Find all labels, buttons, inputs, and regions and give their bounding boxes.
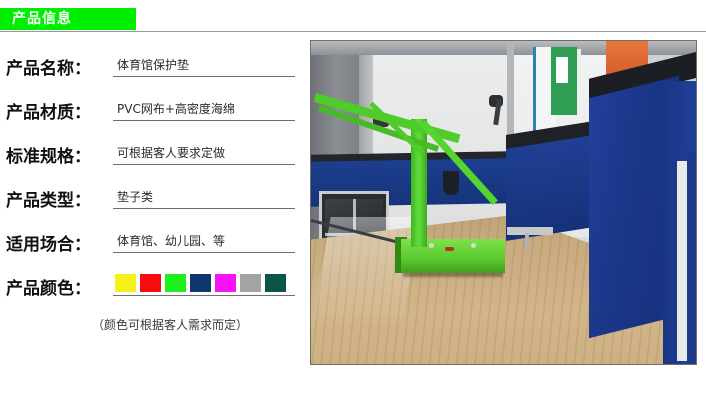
spec-value-underline: 可根据客人要求定做 [113,144,295,165]
spec-label: 产品材质： [6,98,91,123]
product-photo-frame [310,40,697,365]
spec-row-application: 适用场合： 体育馆、幼儿园、等 [0,222,300,266]
spec-value-underline [113,274,295,296]
banner-title: 产品信息 [12,10,72,28]
spec-row-specification: 标准规格： 可根据客人要求定做 [0,134,300,178]
color-swatch-dark-teal[interactable] [265,274,286,292]
color-swatch-navy-blue[interactable] [190,274,211,292]
color-swatch-yellow[interactable] [115,274,136,292]
spec-value-underline: PVC网布+高密度海绵 [113,100,295,121]
spec-label: 产品颜色： [6,274,91,299]
spec-value-underline: 体育馆保护垫 [113,56,295,77]
spec-label: 产品类型： [6,186,91,211]
spec-value: 体育馆、幼儿园、等 [117,233,225,250]
spec-value-underline: 垫子类 [113,188,295,209]
spec-value: PVC网布+高密度海绵 [117,101,235,118]
spec-label: 产品名称： [6,54,91,79]
spec-value: 可根据客人要求定做 [117,145,225,162]
spec-row-product-color: 产品颜色： [0,266,300,310]
color-swatch-red[interactable] [140,274,161,292]
spec-row-product-name: 产品名称： 体育馆保护垫 [0,46,300,90]
spec-row-product-type: 产品类型： 垫子类 [0,178,300,222]
color-swatch-green[interactable] [165,274,186,292]
spec-value: 体育馆保护垫 [117,57,189,74]
spec-row-material: 产品材质： PVC网布+高密度海绵 [0,90,300,134]
spec-label: 适用场合： [6,230,91,255]
color-note: （颜色可根据客人需求而定） [92,316,248,333]
spec-value: 垫子类 [117,189,153,206]
spec-list: 产品名称： 体育馆保护垫 产品材质： PVC网布+高密度海绵 标准规格： 可根据… [0,46,300,310]
spec-value-underline: 体育馆、幼儿园、等 [113,232,295,253]
color-swatch-group [115,274,286,292]
product-photo [311,41,696,364]
spec-label: 标准规格： [6,142,91,167]
header-divider [0,31,706,32]
product-info-banner: 产品信息 [0,8,136,30]
color-swatch-grey[interactable] [240,274,261,292]
color-swatch-magenta[interactable] [215,274,236,292]
